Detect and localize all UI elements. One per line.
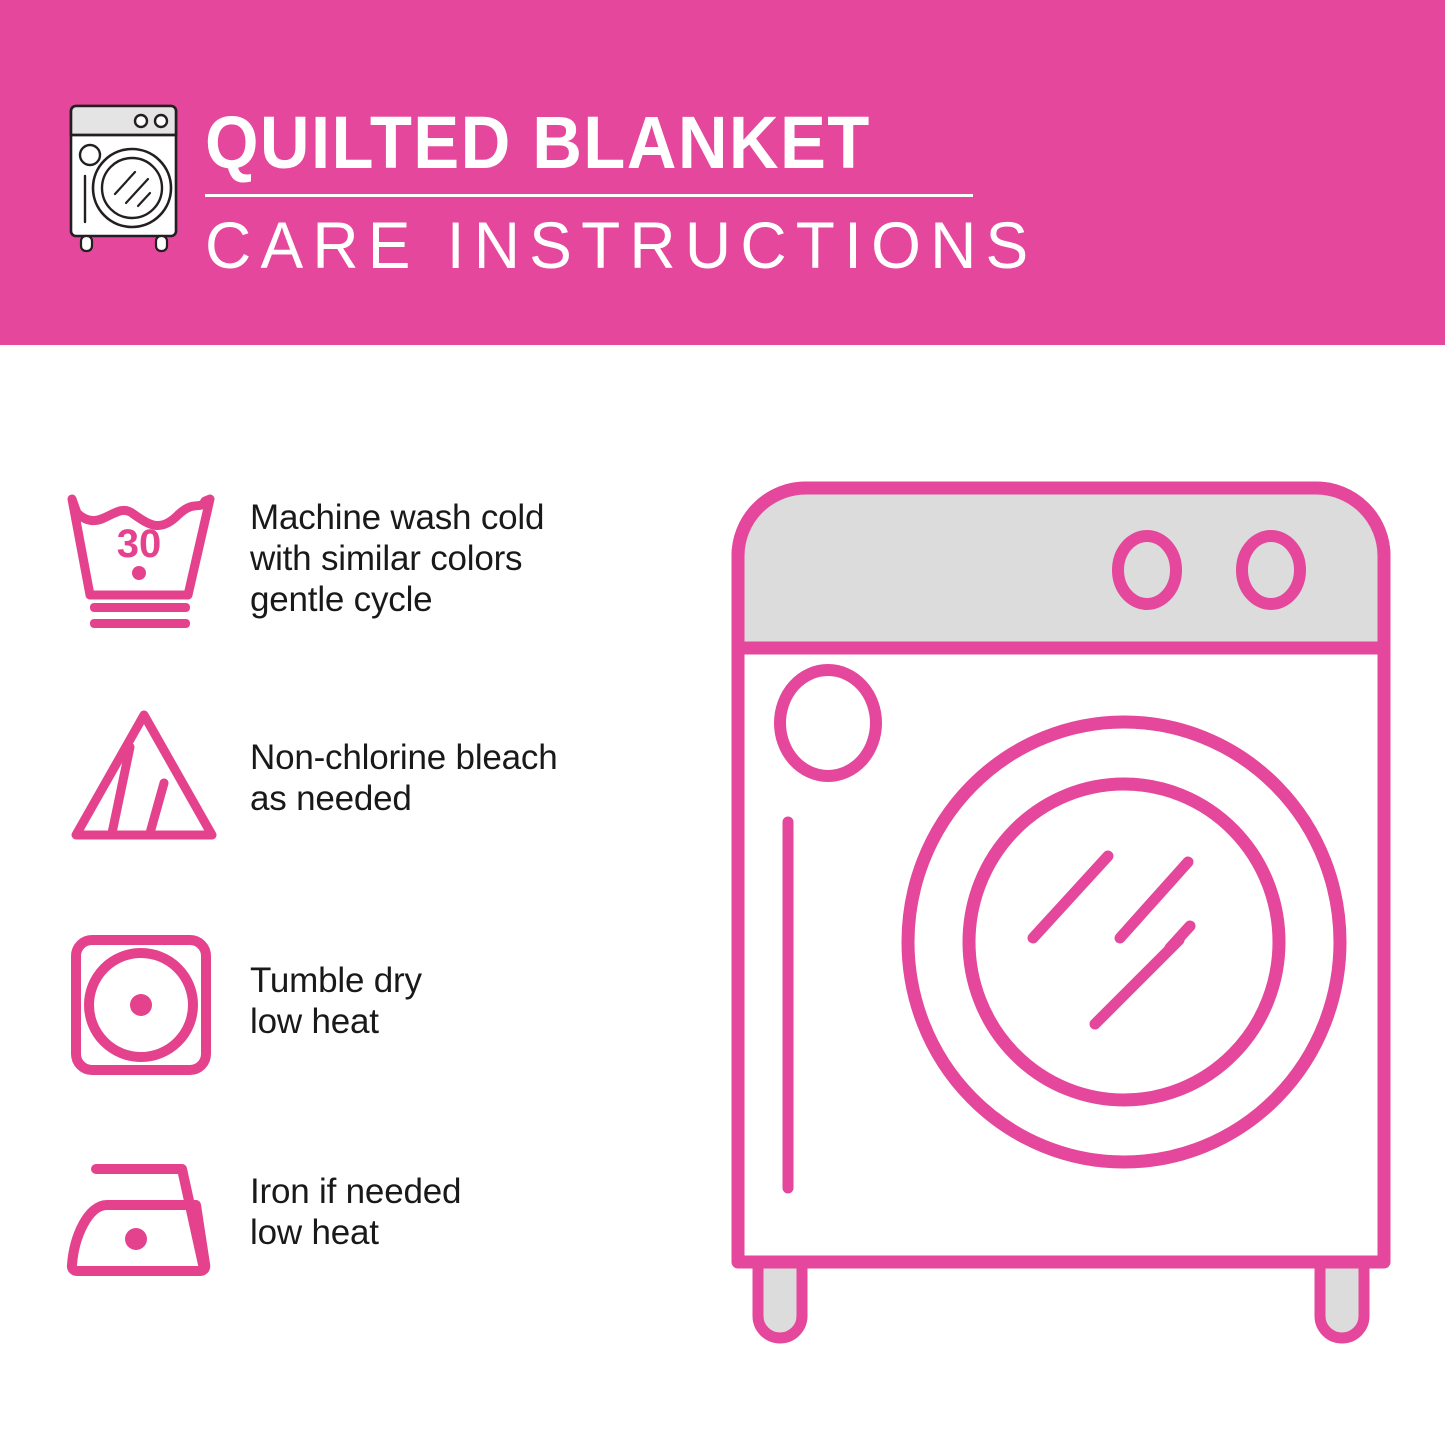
instruction-text: Machine wash cold with similar colors ge… [250,485,544,620]
wash-temp-label: 30 [117,522,162,566]
care-instructions-page: QUILTED BLANKET CARE INSTRUCTIONS 30 [0,0,1445,1445]
title-divider [205,194,973,197]
washing-machine-icon [62,100,192,255]
instruction-row: Iron if needed low heat [60,1145,690,1295]
instruction-row: Non-chlorine bleach as needed [60,705,690,855]
machine-leg [1320,1260,1364,1338]
dry-heat-dot [130,994,152,1016]
detergent-indicator-icon [780,670,876,776]
instruction-text: Tumble dry low heat [250,930,422,1042]
wash-dot [132,566,146,580]
tumble-dry-icon [60,930,250,1080]
door-inner-ring [969,784,1279,1100]
page-title: QUILTED BLANKET [205,103,940,183]
gentle-bar [90,603,190,612]
instruction-row: 30 Machine wash cold with similar colors… [60,485,690,635]
instruction-text: Non-chlorine bleach as needed [250,705,558,819]
instruction-text: Iron if needed low heat [250,1145,461,1253]
iron-heat-dot [125,1228,147,1250]
page-subtitle: CARE INSTRUCTIONS [205,209,971,281]
machine-leg [758,1260,802,1338]
control-knob [1242,536,1300,604]
gentle-bar [90,619,190,628]
instruction-row: Tumble dry low heat [60,930,690,1080]
iron-icon [60,1145,250,1295]
washing-machine-illustration [720,470,1410,1360]
header-banner: QUILTED BLANKET CARE INSTRUCTIONS [0,0,1445,345]
wash-tub-icon: 30 [60,485,250,635]
bleach-triangle-icon [60,705,250,855]
control-knob [1118,536,1176,604]
header-text-block: QUILTED BLANKET CARE INSTRUCTIONS [205,103,995,281]
